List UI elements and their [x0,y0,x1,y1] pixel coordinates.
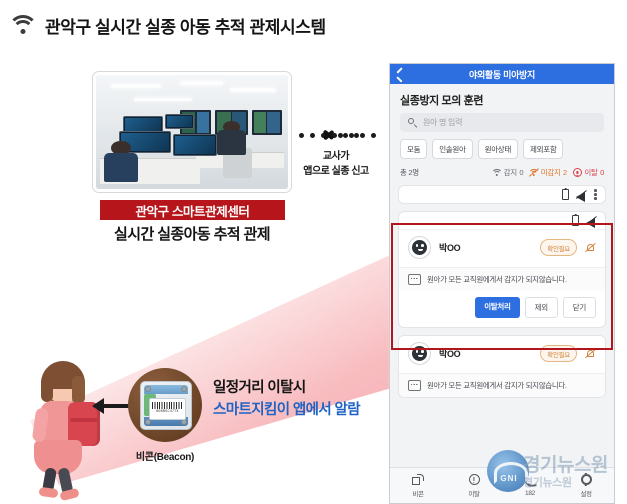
nav-label-missing: 이탈 [446,488,502,498]
nav-item-missing[interactable]: 이탈 [446,473,502,498]
filter-chips: 모둠 인솔원아 원아상태 제외포함 [390,132,614,165]
status-badge: 확인필요 [540,345,577,362]
status-undetected-label: 미감지 [541,167,561,178]
annotation-low-line2: 스마트지킴이 앱에서 알람 [213,400,393,422]
student-card-list: 박OO 확인필요 원아가 모든 교직원에게서 감지가 되지않습니다. 이탈처리 … [390,185,614,398]
card-person-row: 박OO 확인필요 [399,229,605,267]
status-missing-count: 0 [600,168,604,177]
annotation-alarm: 일정거리 이탈시 스마트지킴이 앱에서 알람 [213,378,393,422]
card-message-row: 원아가 모든 교직원에게서 감지가 되지않습니다. [399,373,605,397]
bell-off-icon[interactable] [585,242,596,253]
status-detected: 감지 0 [492,167,523,178]
status-detected-count: 0 [519,168,523,177]
card-message: 원아가 모든 교직원에게서 감지가 되지않습니다. [427,380,567,391]
beacon-label: 비콘(Beacon) [118,448,212,463]
avatar [408,236,431,259]
annotation-teacher-report: 교사가 앱으로 실종 신고 [290,150,382,179]
back-button[interactable] [397,68,405,80]
filter-chip-include-excluded[interactable]: 제외포함 [523,139,563,159]
student-name: 박OO [439,347,532,360]
nav-label-settings: 설정 [558,488,614,498]
bell-off-icon[interactable] [585,348,596,359]
control-center-photo [93,72,291,192]
status-detected-label: 감지 [504,167,517,178]
student-card[interactable]: 박OO 확인필요 원아가 모든 교직원에게서 감지가 되지않습니다. [398,335,606,398]
card-toolbar [399,186,605,203]
mute-icon[interactable] [576,190,587,200]
beacon-device-image: B00B5C47TX [128,368,202,442]
status-missing: 이탈 0 [573,167,604,178]
card-actions: 이탈처리 제외 닫기 [399,291,605,327]
child-illustration [18,360,104,502]
search-placeholder: 원아 명 입력 [423,117,462,128]
handle-missing-button[interactable]: 이탈처리 [475,297,519,318]
beacon-icon [412,474,424,485]
student-name: 박OO [439,241,532,254]
app-title: 야외활동 미아방지 [390,68,614,81]
search-icon [408,118,417,127]
section-title: 실종방지 모의 훈련 [390,84,614,113]
avatar [408,342,431,365]
nav-item-beacon[interactable]: 비콘 [390,473,446,498]
nav-item-settings[interactable]: 설정 [558,473,614,498]
status-badge: 확인필요 [540,239,577,256]
student-card[interactable] [398,185,606,204]
card-toolbar [399,212,605,229]
dotted-line-right [338,131,378,140]
photo-scene [96,75,288,189]
bottom-nav: 비콘 이탈 182 설정 [390,467,614,503]
alert-circle-icon [573,168,582,177]
status-undetected: 미감지 2 [529,167,567,178]
status-summary: 총 2명 감지 0 미감지 2 이탈 0 [390,165,614,185]
filter-chip-guide-child[interactable]: 인솔원아 [432,139,472,159]
photo-caption-banner: 관악구 스마트관제센터 [100,200,285,220]
nav-label-call-182: 182 [502,490,558,497]
wifi-icon [10,14,36,36]
page-header: 관악구 실시간 실종 아동 추적 관제시스템 [0,0,627,50]
student-card[interactable]: 박OO 확인필요 원아가 모든 교직원에게서 감지가 되지않습니다. 이탈처리 … [398,211,606,328]
search-input[interactable]: 원아 명 입력 [400,113,604,132]
phone-icon [524,475,536,487]
app-bar: 야외활동 미아방지 [390,64,614,84]
photo-caption-sub: 실시간 실종아동 추적 관제 [93,223,291,244]
exclude-button[interactable]: 제외 [525,297,558,318]
card-person-row: 박OO 확인필요 [399,336,605,373]
message-bubble-icon [408,274,421,285]
kebab-menu-icon[interactable] [594,189,597,200]
close-button[interactable]: 닫기 [563,297,596,318]
filter-chip-group[interactable]: 모둠 [400,139,427,159]
signal-off-icon [529,168,538,177]
gear-icon [581,474,592,485]
annotation-mid-line1: 교사가 [290,150,382,165]
card-message-row: 원아가 모든 교직원에게서 감지가 되지않습니다. [399,267,605,291]
battery-icon [562,189,569,200]
mute-icon[interactable] [586,216,597,226]
nav-label-beacon: 비콘 [390,488,446,498]
page-title: 관악구 실시간 실종 아동 추적 관제시스템 [45,13,326,38]
status-undetected-count: 2 [563,168,567,177]
card-message: 원아가 모든 교직원에게서 감지가 되지않습니다. [427,274,567,285]
signal-icon [492,168,501,177]
nav-item-call-182[interactable]: 182 [502,475,558,497]
alert-circle-icon [469,474,480,485]
battery-icon [572,215,579,226]
message-bubble-icon [408,380,421,391]
annotation-mid-line2: 앱으로 실종 신고 [290,165,382,180]
chevron-left-icon [319,123,333,145]
filter-chip-child-status[interactable]: 원아상태 [478,139,518,159]
annotation-low-line1: 일정거리 이탈시 [213,378,393,400]
status-missing-label: 이탈 [584,167,597,178]
arrow-left-icon [92,398,130,414]
phone-mockup: 야외활동 미아방지 실종방지 모의 훈련 원아 명 입력 모둠 인솔원아 원아상… [389,63,615,504]
total-count: 총 2명 [400,167,419,178]
